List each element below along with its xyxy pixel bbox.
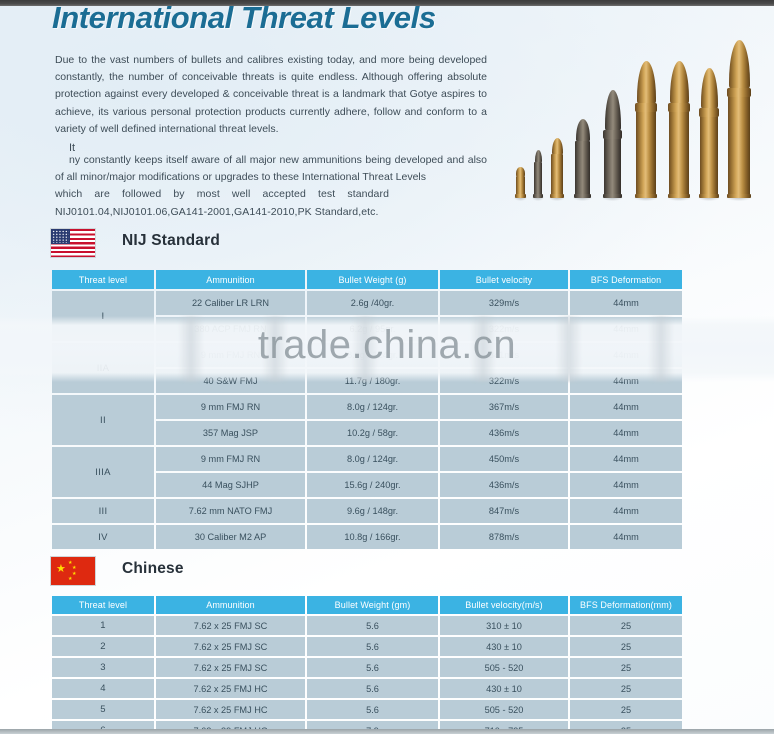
intro-paragraph-2: It ny constantly keeps itself aware of a…	[55, 152, 487, 186]
table-cell: 847m/s	[440, 499, 568, 523]
bullet-cartridge	[534, 150, 542, 198]
table-cell: 44mm	[570, 421, 682, 445]
table-cell: 44mm	[570, 369, 682, 393]
threat-level-cell: 5	[52, 700, 154, 719]
us-flag-icon	[50, 228, 96, 258]
table-cell: 9.6g / 148gr.	[307, 499, 438, 523]
table-cell: 25	[570, 637, 682, 656]
table-cell: 505 - 520	[440, 658, 568, 677]
table-cell: 430 ± 10	[440, 679, 568, 698]
table-cell: 25	[570, 658, 682, 677]
bullet-cartridge	[604, 90, 621, 198]
table-row: 17.62 x 25 FMJ SC5.6310 ± 1025	[52, 616, 682, 635]
table-row: IIIA9 mm FMJ RN8.0g / 124gr.450m/s44mm	[52, 447, 682, 471]
column-header: Bullet Weight (gm)	[307, 596, 438, 614]
column-header: BFS Deformation(mm)	[570, 596, 682, 614]
table-cell: 15.6g / 240gr.	[307, 473, 438, 497]
table-cell: 436m/s	[440, 421, 568, 445]
table-cell: 25	[570, 616, 682, 635]
bullet-cartridge	[636, 61, 656, 198]
table-cell: 367m/s	[440, 395, 568, 419]
table-cell: 8.0g / 124gr.	[307, 343, 438, 367]
column-header: Threat level	[52, 270, 154, 289]
table-cell: 10.2g / 58gr.	[307, 421, 438, 445]
table-cell: 430 ± 10	[440, 637, 568, 656]
table-cell: 25	[570, 700, 682, 719]
threat-level-cell: III	[52, 499, 154, 523]
table-cell: 450m/s	[440, 447, 568, 471]
table-cell: 44mm	[570, 395, 682, 419]
bullet-cartridge	[575, 119, 590, 198]
intro-paragraph-2-line4: NIJ0101.04,NIJ0101.06,GA141-2001,GA141-2…	[55, 204, 487, 221]
bullet-cartridge	[516, 167, 525, 198]
table-cell: 5.6	[307, 679, 438, 698]
table-cell: 44mm	[570, 499, 682, 523]
threat-level-cell: 3	[52, 658, 154, 677]
bullet-cartridge	[728, 40, 750, 198]
table-cell: 310 ± 10	[440, 616, 568, 635]
table-cell: 5.6	[307, 658, 438, 677]
column-header: BFS Deformation	[570, 270, 682, 289]
table-cell: 44mm	[570, 291, 682, 315]
table-cell: 7.62 x 25 FMJ HC	[156, 700, 305, 719]
table-cell: 7.62 x 25 FMJ SC	[156, 637, 305, 656]
table-row: III7.62 mm NATO FMJ9.6g / 148gr.847m/s44…	[52, 499, 682, 523]
table-row: II9 mm FMJ RN8.0g / 124gr.367m/s44mm	[52, 395, 682, 419]
table-cell: 380 ACP FMJ RN	[156, 317, 305, 341]
bullet-cartridge	[700, 68, 718, 198]
column-header: Bullet velocity	[440, 270, 568, 289]
table-cell: 30 Caliber M2 AP	[156, 525, 305, 549]
table-cell: 7.62 x 25 FMJ SC	[156, 616, 305, 635]
table-cell: 44mm	[570, 525, 682, 549]
table-cell: 322m/s	[440, 369, 568, 393]
bullet-cartridge	[551, 138, 563, 198]
column-header: Bullet Weight (g)	[307, 270, 438, 289]
table-cell: 329m/s	[440, 291, 568, 315]
table-cell: 436m/s	[440, 473, 568, 497]
intro-paragraph-1: Due to the vast numbers of bullets and c…	[55, 52, 487, 138]
table-cell: 2.6g /40gr.	[307, 291, 438, 315]
intro-copy: Due to the vast numbers of bullets and c…	[55, 52, 487, 221]
table-cell: 5.6	[307, 700, 438, 719]
table-cell: 7.62 x 25 FMJ HC	[156, 679, 305, 698]
table-cell: 40 S&W FMJ	[156, 369, 305, 393]
table-row: IIA9 mm FMJ RN8.0g / 124gr.341m/s44mm	[52, 343, 682, 367]
table-cell: 341m/s	[440, 343, 568, 367]
threat-level-cell: 4	[52, 679, 154, 698]
threat-level-cell: 2	[52, 637, 154, 656]
table-cell: 9 mm FMJ RN	[156, 395, 305, 419]
table-cell: 44mm	[570, 317, 682, 341]
table-cell: 5.6	[307, 637, 438, 656]
table-cell: 10.8g / 166gr.	[307, 525, 438, 549]
table-cell: 8.0g / 124gr.	[307, 447, 438, 471]
table-header-row: Threat levelAmmunitionBullet Weight (g)B…	[52, 270, 682, 289]
table-cell: 505 - 520	[440, 700, 568, 719]
table-cell: 6.2g / 95gr.	[307, 317, 438, 341]
table-row: 27.62 x 25 FMJ SC5.6430 ± 1025	[52, 637, 682, 656]
table-row: 37.62 x 25 FMJ SC5.6505 - 52025	[52, 658, 682, 677]
bottom-edge-bar	[0, 729, 774, 734]
threat-level-cell: IIA	[52, 343, 154, 393]
intro-paragraph-2-line3: which are followed by most well accepted…	[55, 186, 487, 203]
table-cell: 44mm	[570, 343, 682, 367]
bullet-cartridges-photo	[512, 38, 764, 198]
table-cell: 8.0g / 124gr.	[307, 395, 438, 419]
table-cell: 7.62 x 25 FMJ SC	[156, 658, 305, 677]
table-cell: 9 mm FMJ RN	[156, 447, 305, 471]
nij-standard-table: Threat levelAmmunitionBullet Weight (g)B…	[50, 268, 684, 551]
column-header: Threat level	[52, 596, 154, 614]
table-cell: 5.6	[307, 616, 438, 635]
cn-flag-icon: ★ ★ ★ ★ ★	[50, 556, 96, 586]
table-cell: 9 mm FMJ RN	[156, 343, 305, 367]
table-row: 47.62 x 25 FMJ HC5.6430 ± 1025	[52, 679, 682, 698]
threat-level-cell: IIIA	[52, 447, 154, 497]
column-header: Ammunition	[156, 270, 305, 289]
page-title: International Threat Levels	[52, 0, 436, 36]
section-header-nij: NIJ Standard	[50, 228, 350, 262]
column-header: Ammunition	[156, 596, 305, 614]
section-label-nij: NIJ Standard	[122, 232, 220, 250]
table-cell: 357 Mag JSP	[156, 421, 305, 445]
section-label-chinese: Chinese	[122, 560, 184, 578]
threat-level-cell: IV	[52, 525, 154, 549]
table-cell: 322m/s	[440, 317, 568, 341]
threat-level-cell: 1	[52, 616, 154, 635]
bullet-cartridge	[669, 61, 689, 198]
table-cell: 44mm	[570, 447, 682, 471]
table-header-row: Threat levelAmmunitionBullet Weight (gm)…	[52, 596, 682, 614]
section-header-chinese: ★ ★ ★ ★ ★ Chinese	[50, 556, 350, 590]
page-root: International Threat Levels Due to the v…	[0, 0, 774, 734]
table-cell: 878m/s	[440, 525, 568, 549]
table-cell: 25	[570, 679, 682, 698]
table-row: I22 Caliber LR LRN2.6g /40gr.329m/s44mm	[52, 291, 682, 315]
table-cell: 22 Caliber LR LRN	[156, 291, 305, 315]
column-header: Bullet velocity(m/s)	[440, 596, 568, 614]
chinese-standard-table: Threat levelAmmunitionBullet Weight (gm)…	[50, 594, 684, 734]
table-cell: 11.7g / 180gr.	[307, 369, 438, 393]
table-row: IV30 Caliber M2 AP10.8g / 166gr.878m/s44…	[52, 525, 682, 549]
threat-level-cell: I	[52, 291, 154, 341]
table-cell: 7.62 mm NATO FMJ	[156, 499, 305, 523]
table-row: 57.62 x 25 FMJ HC5.6505 - 52025	[52, 700, 682, 719]
table-cell: 44mm	[570, 473, 682, 497]
table-cell: 44 Mag SJHP	[156, 473, 305, 497]
threat-level-cell: II	[52, 395, 154, 445]
intro-paragraph-2-text: ny constantly keeps itself aware of all …	[55, 154, 487, 183]
text-artifact-it: It	[69, 140, 75, 157]
